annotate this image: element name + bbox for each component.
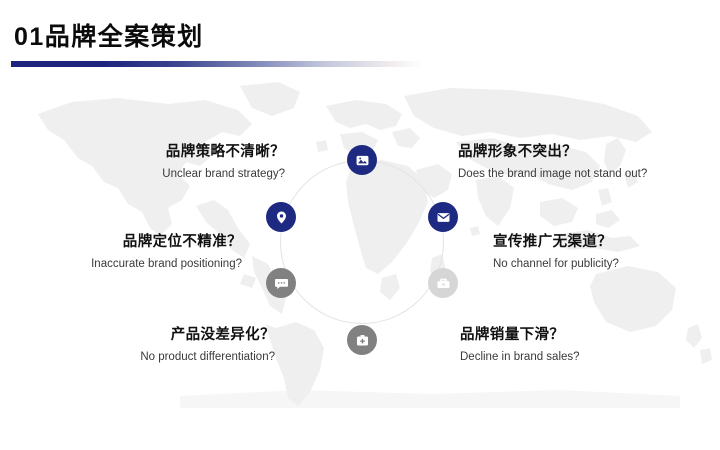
- title-underline-gradient: [11, 61, 423, 67]
- callout-title-cn: 品牌策略不清晰？: [0, 142, 285, 162]
- image-icon: [355, 153, 370, 168]
- mail-icon: [436, 210, 451, 225]
- callout-brand-image: 品牌形象不突出？ Does the brand image not stand …: [458, 142, 647, 182]
- node-mail[interactable]: [428, 202, 458, 232]
- callout-publicity-channel: 宣传推广无渠道？ No channel for publicity?: [493, 232, 619, 272]
- callout-subtitle-en: Inaccurate brand positioning?: [0, 257, 242, 272]
- callout-brand-strategy: 品牌策略不清晰？ Unclear brand strategy?: [0, 142, 285, 182]
- callout-subtitle-en: Decline in brand sales?: [460, 350, 580, 365]
- callout-title-cn: 品牌形象不突出？: [458, 142, 647, 162]
- page-title: 01品牌全案策划: [14, 21, 204, 53]
- callout-title-cn: 宣传推广无渠道？: [493, 232, 619, 252]
- callout-subtitle-en: Does the brand image not stand out?: [458, 167, 647, 182]
- medical-cross-icon: [355, 333, 370, 348]
- node-chat[interactable]: [266, 268, 296, 298]
- callout-title-cn: 品牌定位不精准？: [0, 232, 242, 252]
- chat-bubble-icon: [274, 276, 289, 291]
- callout-product-differentiation: 产品没差异化？ No product differentiation?: [0, 325, 275, 365]
- callout-brand-positioning: 品牌定位不精准？ Inaccurate brand positioning?: [0, 232, 242, 272]
- node-medical[interactable]: [347, 325, 377, 355]
- central-ring-diagram: [252, 140, 472, 360]
- callout-brand-sales: 品牌销量下滑？ Decline in brand sales?: [460, 325, 580, 365]
- callout-title-cn: 产品没差异化？: [0, 325, 275, 345]
- node-image[interactable]: [347, 145, 377, 175]
- callout-subtitle-en: No product differentiation?: [0, 350, 275, 365]
- briefcase-icon: [436, 276, 451, 291]
- callout-title-cn: 品牌销量下滑？: [460, 325, 580, 345]
- slide-header: 01品牌全案策划: [0, 0, 720, 75]
- node-briefcase[interactable]: [428, 268, 458, 298]
- connector-ring: [280, 160, 444, 324]
- callout-subtitle-en: Unclear brand strategy?: [0, 167, 285, 182]
- callout-subtitle-en: No channel for publicity?: [493, 257, 619, 272]
- location-pin-icon: [274, 210, 289, 225]
- node-location[interactable]: [266, 202, 296, 232]
